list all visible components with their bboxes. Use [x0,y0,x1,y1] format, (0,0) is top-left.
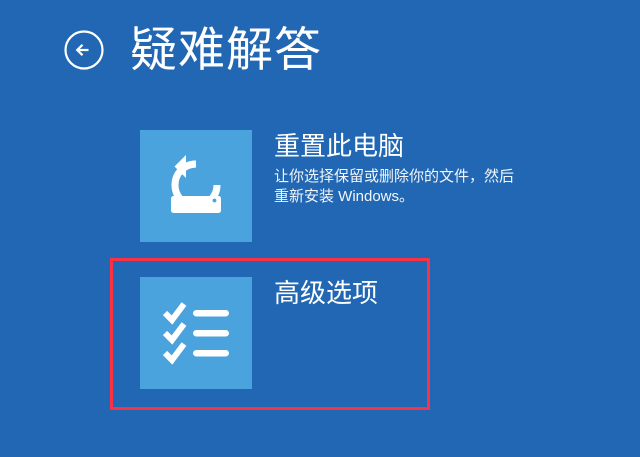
reset-pc-description: 让你选择保留或删除你的文件，然后 重新安装 Windows。 [274,167,514,207]
reset-pc-title: 重置此电脑 [274,131,514,162]
advanced-options-tile[interactable] [140,277,252,389]
reset-pc-description-line-2: 重新安装 Windows。 [274,187,514,207]
option-advanced-options[interactable]: 高级选项 [140,277,378,389]
header: 疑难解答 [62,26,322,73]
advanced-options-title: 高级选项 [274,278,378,309]
advanced-options-checklist-icon [160,297,232,369]
back-arrow-circle-icon[interactable] [62,28,106,72]
reset-pc-description-line-1: 让你选择保留或删除你的文件，然后 [274,167,514,187]
reset-pc-text-block: 重置此电脑 让你选择保留或删除你的文件，然后 重新安装 Windows。 [274,130,514,207]
reset-pc-disk-refresh-icon [158,148,234,224]
page-title: 疑难解答 [130,26,322,73]
advanced-options-text-block: 高级选项 [274,277,378,309]
back-arrow-circle-glyph [62,28,106,72]
windows-recovery-troubleshoot-screen: { "screen": { "background_color": "#2167… [0,0,640,457]
option-reset-this-pc[interactable]: 重置此电脑 让你选择保留或删除你的文件，然后 重新安装 Windows。 [140,130,514,242]
reset-pc-tile[interactable] [140,130,252,242]
